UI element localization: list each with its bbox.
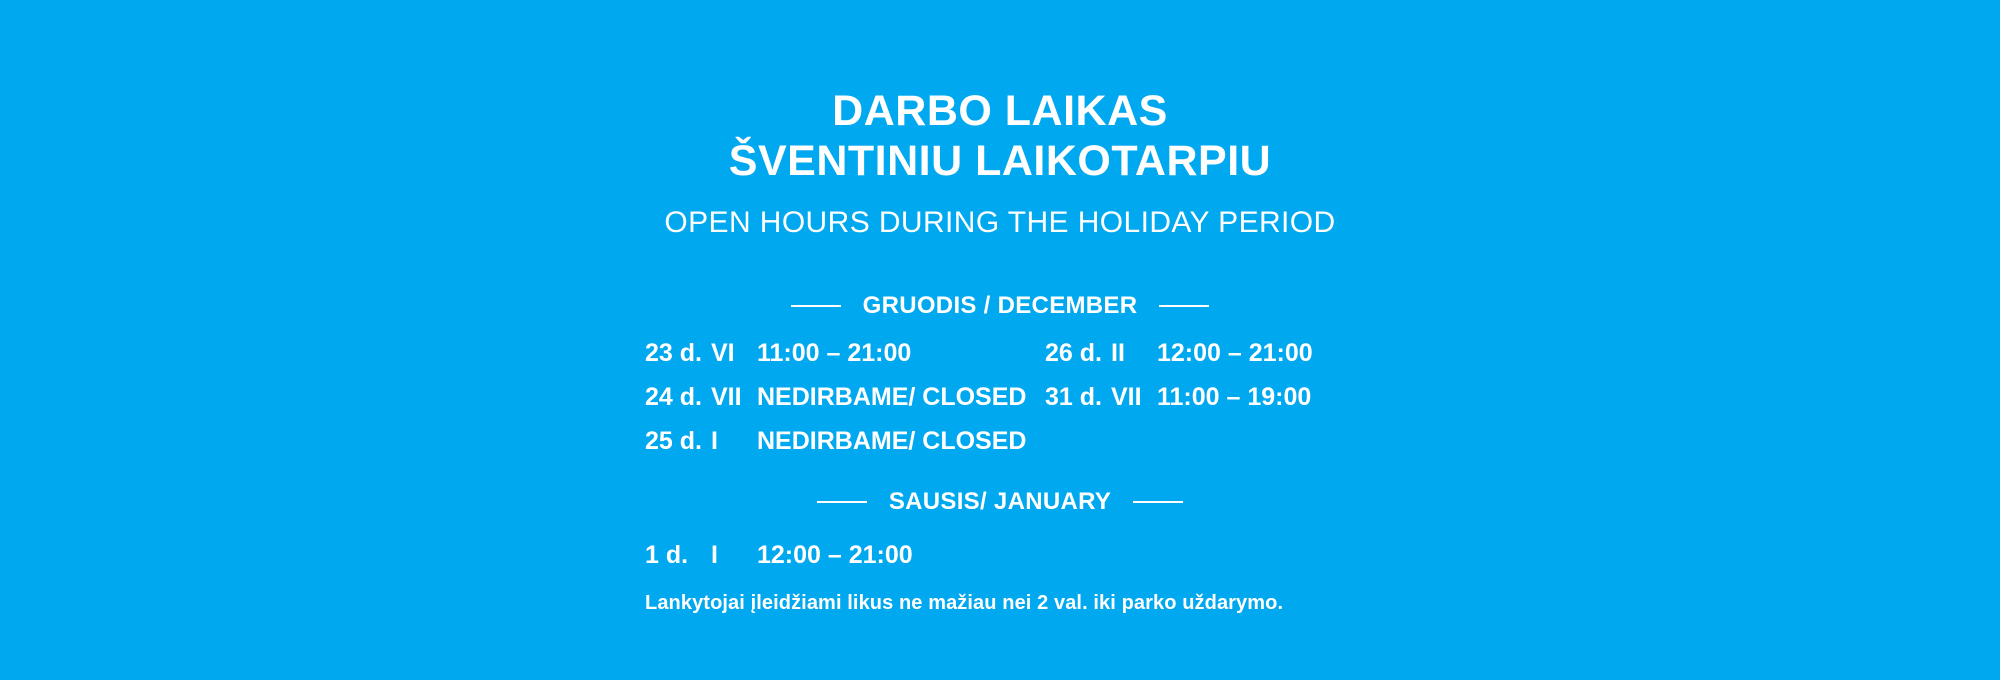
schedule-entry: 23 d. VI 11:00 – 21:00 [645, 339, 1045, 368]
divider-line-right [1133, 501, 1183, 503]
schedule-january: 1 d. I 12:00 – 21:00 [645, 541, 1645, 585]
date-weekday: VII [711, 383, 757, 412]
title-line-2: ŠVENTINIU LAIKOTARPIU [0, 136, 2000, 186]
month-label-december: GRUODIS / DECEMBER [863, 292, 1138, 320]
date-hours: NEDIRBAME/ CLOSED [757, 427, 1026, 456]
date-day: 23 d. [645, 339, 711, 368]
title-line-1: DARBO LAIKAS [0, 86, 2000, 136]
date-hours: 12:00 – 21:00 [1157, 339, 1313, 368]
schedule-entry: 25 d. I NEDIRBAME/ CLOSED [645, 427, 1045, 456]
date-weekday: I [711, 427, 757, 456]
date-day: 25 d. [645, 427, 711, 456]
divider-line-left [791, 305, 841, 307]
page-subtitle: OPEN HOURS DURING THE HOLIDAY PERIOD [0, 206, 2000, 240]
holiday-hours-poster: DARBO LAIKAS ŠVENTINIU LAIKOTARPIU OPEN … [0, 0, 2000, 680]
date-day: 1 d. [645, 541, 711, 570]
month-header-december: GRUODIS / DECEMBER [0, 292, 2000, 320]
date-weekday: I [711, 541, 757, 570]
table-row: 24 d. VII NEDIRBAME/ CLOSED 31 d. VII 11… [645, 383, 1645, 427]
divider-line-left [817, 501, 867, 503]
date-weekday: VI [711, 339, 757, 368]
month-header-january: SAUSIS/ JANUARY [0, 488, 2000, 516]
date-day: 31 d. [1045, 383, 1111, 412]
month-label-january: SAUSIS/ JANUARY [889, 488, 1111, 516]
date-day: 26 d. [1045, 339, 1111, 368]
table-row: 1 d. I 12:00 – 21:00 [645, 541, 1645, 585]
date-hours: NEDIRBAME/ CLOSED [757, 383, 1026, 412]
schedule-entry: 31 d. VII 11:00 – 19:00 [1045, 383, 1445, 412]
divider-line-right [1159, 305, 1209, 307]
page-title: DARBO LAIKAS ŠVENTINIU LAIKOTARPIU [0, 86, 2000, 187]
schedule-entry: 26 d. II 12:00 – 21:00 [1045, 339, 1445, 368]
schedule-entry: 24 d. VII NEDIRBAME/ CLOSED [645, 383, 1045, 412]
schedule-december: 23 d. VI 11:00 – 21:00 26 d. II 12:00 – … [645, 339, 1645, 471]
date-hours: 12:00 – 21:00 [757, 541, 913, 570]
date-hours: 11:00 – 19:00 [1157, 383, 1311, 412]
date-weekday: II [1111, 339, 1157, 368]
schedule-entry: 1 d. I 12:00 – 21:00 [645, 541, 1045, 570]
date-day: 24 d. [645, 383, 711, 412]
date-hours: 11:00 – 21:00 [757, 339, 911, 368]
date-weekday: VII [1111, 383, 1157, 412]
table-row: 25 d. I NEDIRBAME/ CLOSED [645, 427, 1645, 471]
visitor-admission-note: Lankytojai įleidžiami likus ne mažiau ne… [645, 592, 1283, 615]
table-row: 23 d. VI 11:00 – 21:00 26 d. II 12:00 – … [645, 339, 1645, 383]
